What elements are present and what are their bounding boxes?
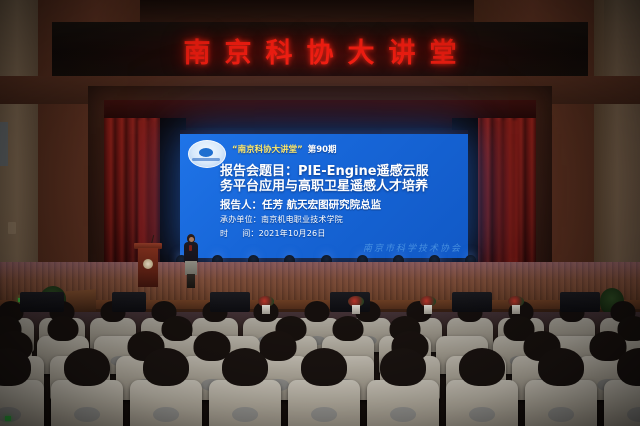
- audience-member: [162, 316, 193, 341]
- exit-indicator-light: [5, 416, 11, 421]
- flower-arrangement: [348, 296, 364, 314]
- flower-arrangement: [420, 296, 436, 314]
- audience-member: [301, 348, 347, 386]
- audience-member: [48, 316, 79, 341]
- right-pillar: [594, 0, 640, 300]
- wall-outlet: [8, 222, 16, 234]
- audience-member: [64, 348, 110, 386]
- slide-kicker-quote: “南京科协大讲堂”: [232, 145, 303, 155]
- slide-title-line2: 务平台应用与高职卫星遥感人才培养: [220, 179, 428, 194]
- stage-monitor: [20, 292, 64, 312]
- audience-member: [459, 348, 505, 386]
- auditorium-seat: [130, 380, 202, 426]
- auditorium-seat: [209, 380, 281, 426]
- lectern: [136, 243, 160, 287]
- presentation-slide: “南京科协大讲堂”第90期 报告会题目：PIE-Engine遥感云服 务平台应用…: [180, 134, 468, 258]
- slide-time-line: 时间：2021年10月26日: [220, 228, 326, 239]
- audience-member: [380, 348, 426, 386]
- slide-host-line: 承办单位：南京机电职业技术学院: [220, 214, 343, 225]
- stage-monitor: [452, 292, 492, 312]
- auditorium-seat: [367, 380, 439, 426]
- audience-member: [538, 348, 584, 386]
- audience-member: [333, 316, 364, 341]
- projection-screen: “南京科协大讲堂”第90期 报告会题目：PIE-Engine遥感云服 务平台应用…: [180, 134, 468, 258]
- stage-monitor: [560, 292, 600, 312]
- auditorium-seat: [51, 380, 123, 426]
- slide-time-value: 间：2021年10月26日: [242, 229, 325, 238]
- audience-member: [305, 301, 330, 322]
- led-banner-text: 南京科协大讲堂: [52, 22, 588, 78]
- slide-time-label: 时: [220, 229, 228, 238]
- wall-plate: [0, 122, 8, 166]
- auditorium-seat: [446, 380, 518, 426]
- slide-kicker-episode: 第90期: [308, 145, 337, 155]
- auditorium-seat: [604, 380, 640, 426]
- flower-arrangement: [508, 296, 524, 314]
- slide-kicker: “南京科协大讲堂”第90期: [232, 143, 337, 155]
- auditorium-seat: [288, 380, 360, 426]
- flower-arrangement: [258, 296, 274, 314]
- slide-title-label: 报告会题目：: [220, 164, 298, 179]
- auditorium-photo: 南京科协大讲堂 “南京科协大讲堂”第90期 报告会题目：PIE-Engine遥感…: [0, 0, 640, 426]
- audience-member: [260, 331, 297, 361]
- handheld-mic-icon: [189, 245, 192, 251]
- audience-member: [143, 348, 189, 386]
- presenter: [182, 234, 200, 290]
- auditorium-seat: [525, 380, 597, 426]
- audience-member: [222, 348, 268, 386]
- seat-row: [0, 380, 632, 426]
- lectern-emblem: [143, 259, 153, 269]
- slide-speaker-line: 报告人：任芳 航天宏图研究院总监: [220, 197, 381, 212]
- slide-title: 报告会题目：PIE-Engine遥感云服 务平台应用与高职卫星遥感人才培养: [220, 164, 464, 194]
- stage-monitor: [112, 292, 146, 312]
- stage-monitor: [210, 292, 250, 312]
- slide-title-line1: PIE-Engine遥感云服: [298, 164, 429, 179]
